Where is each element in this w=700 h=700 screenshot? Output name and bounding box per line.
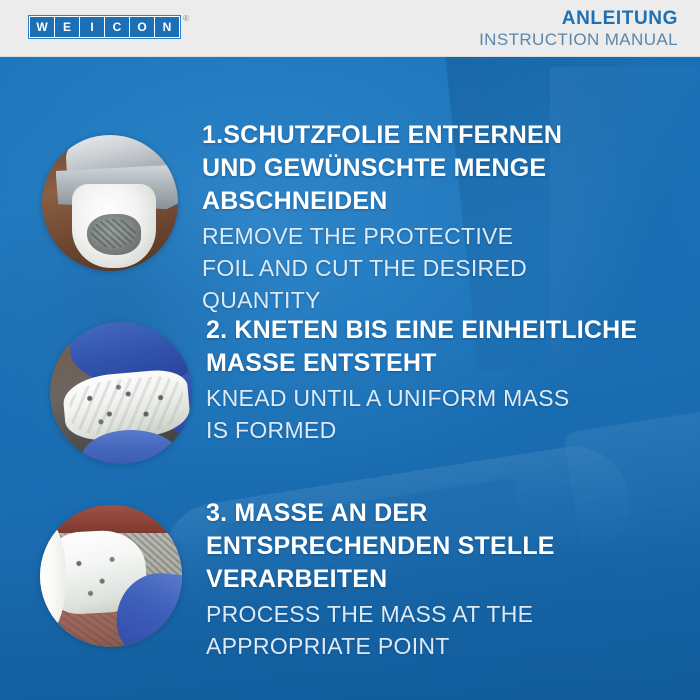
step-3-photo	[40, 505, 182, 647]
step-3-title-german: 3. MASSE AN DER ENTSPRECHENDEN STELLE VE…	[206, 497, 676, 596]
logo-letter-i: I	[80, 17, 104, 37]
step-1-photo	[42, 135, 178, 271]
logo-letter-e: E	[55, 17, 79, 37]
step-1-title-german: 1.SCHUTZFOLIE ENTFERNEN UND GEWÜNSCHTE M…	[202, 119, 672, 218]
step-3-text: 3. MASSE AN DER ENTSPRECHENDEN STELLE VE…	[206, 495, 676, 662]
logo-letter-o: O	[130, 17, 154, 37]
step-2-photo	[50, 322, 192, 464]
step-item-3: 3. MASSE AN DER ENTSPRECHENDEN STELLE VE…	[0, 495, 676, 662]
step-2-text: 2. KNETEN BIS EINE EINHEITLICHE MASSE EN…	[206, 312, 696, 446]
logo-letter-boxes: W E I C O N	[28, 15, 181, 39]
page-header: W E I C O N ® ANLEITUNG INSTRUCTION MANU…	[0, 0, 700, 57]
step-2-title-german: 2. KNETEN BIS EINE EINHEITLICHE MASSE EN…	[206, 314, 696, 380]
step-2-title-english: KNEAD UNTIL A UNIFORM MASS IS FORMED	[206, 382, 696, 446]
step-1-text: 1.SCHUTZFOLIE ENTFERNEN UND GEWÜNSCHTE M…	[202, 117, 672, 316]
step-3-title-english: PROCESS THE MASS AT THE APPROPRIATE POIN…	[206, 598, 676, 662]
header-title-group: ANLEITUNG INSTRUCTION MANUAL	[479, 8, 678, 50]
logo-letter-n: N	[155, 17, 179, 37]
photo-1-core-texture	[91, 219, 136, 248]
header-title-german: ANLEITUNG	[479, 8, 678, 29]
steps-container: 1.SCHUTZFOLIE ENTFERNEN UND GEWÜNSCHTE M…	[0, 57, 700, 700]
logo-letter-c: C	[105, 17, 129, 37]
step-1-title-english: REMOVE THE PROTECTIVE FOIL AND CUT THE D…	[202, 220, 672, 316]
step-item-2: 2. KNETEN BIS EINE EINHEITLICHE MASSE EN…	[0, 312, 696, 464]
weicon-logo: W E I C O N ®	[28, 15, 189, 39]
step-item-1: 1.SCHUTZFOLIE ENTFERNEN UND GEWÜNSCHTE M…	[0, 117, 672, 316]
instruction-manual-page: W E I C O N ® ANLEITUNG INSTRUCTION MANU…	[0, 0, 700, 700]
logo-letter-w: W	[30, 17, 54, 37]
registered-trademark-icon: ®	[183, 14, 189, 23]
header-title-english: INSTRUCTION MANUAL	[479, 30, 678, 50]
